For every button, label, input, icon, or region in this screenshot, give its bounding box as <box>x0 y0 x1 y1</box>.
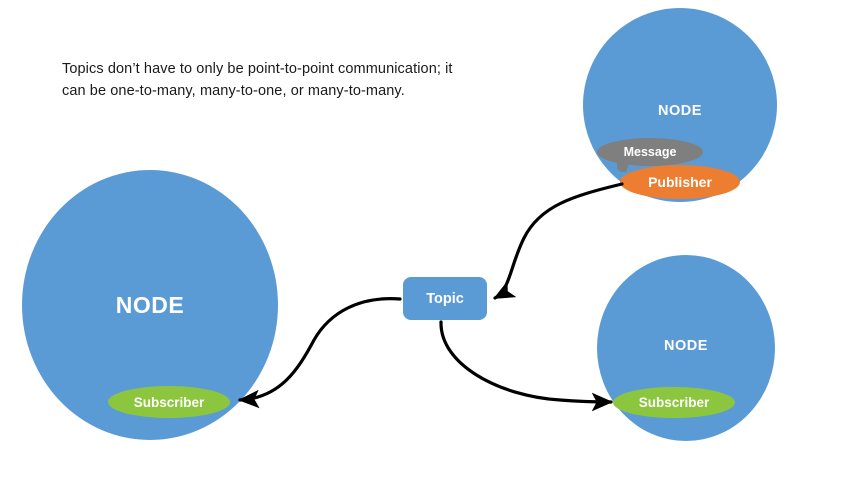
message-callout[interactable]: Message <box>597 138 703 166</box>
publisher-top-right[interactable]: Publisher <box>620 165 740 199</box>
caption-line-1: Topics don’t have to only be point-to-po… <box>62 58 492 80</box>
arrow-publisher-to-topic <box>495 184 622 298</box>
node-left-label: NODE <box>22 292 278 319</box>
topic-box[interactable]: Topic <box>403 277 487 320</box>
node-bottom-right-label: NODE <box>597 338 775 354</box>
diagram-canvas: Topics don’t have to only be point-to-po… <box>0 0 854 480</box>
caption-text: Topics don’t have to only be point-to-po… <box>62 58 492 103</box>
subscriber-left[interactable]: Subscriber <box>108 386 230 418</box>
subscriber-bottom-right[interactable]: Subscriber <box>613 387 735 418</box>
caption-line-2: can be one-to-many, many-to-one, or many… <box>62 80 492 102</box>
node-top-right-label: NODE <box>583 103 777 119</box>
arrow-topic-to-bottom-right-subscriber <box>441 322 611 402</box>
